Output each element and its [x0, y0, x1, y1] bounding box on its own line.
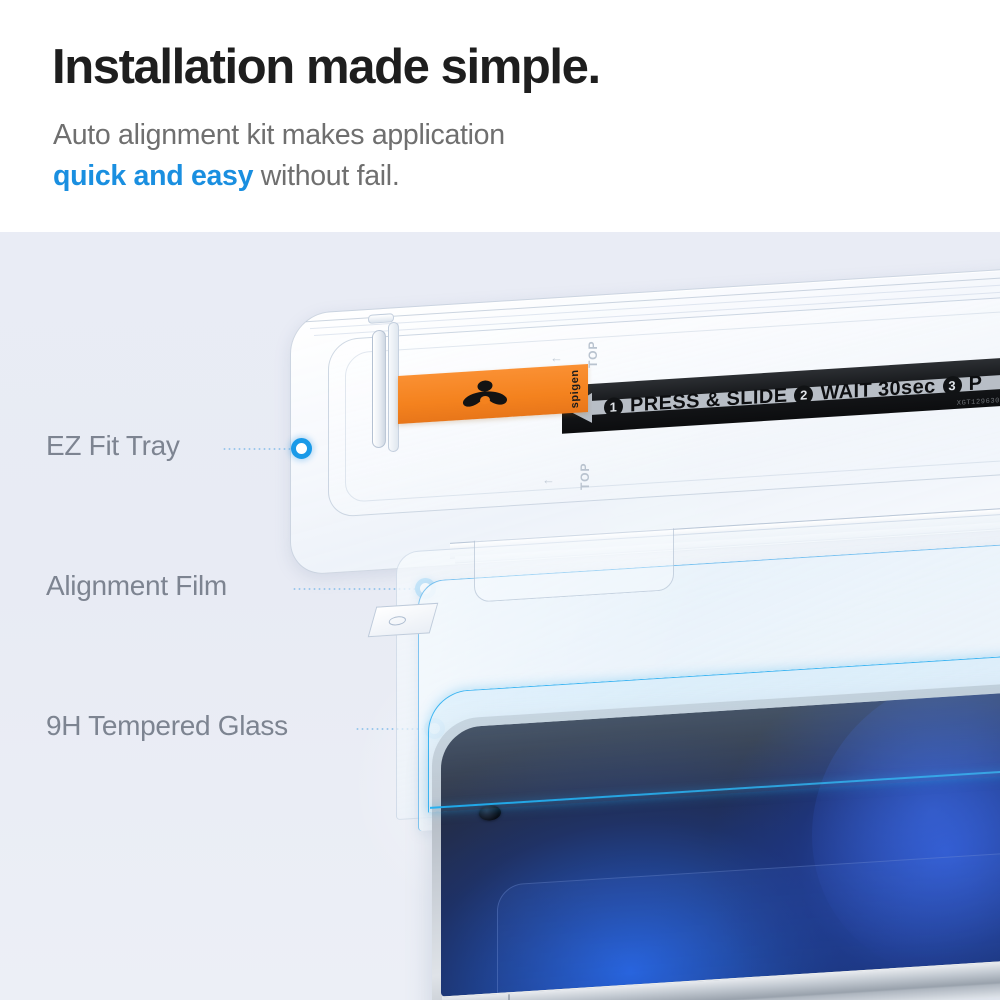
subtitle-line-2: without fail.	[253, 160, 399, 192]
top-marker-upper: TOP	[586, 341, 600, 368]
subtitle-accent: quick and easy	[53, 160, 253, 192]
step-3-badge: 3	[943, 375, 962, 395]
film-notch-cutout	[474, 528, 674, 603]
film-pull-tab-hole	[388, 616, 408, 626]
callout-alignment-film: Alignment Film	[46, 570, 366, 610]
spigen-trefoil-icon	[456, 378, 514, 412]
callout-label-alignment-film: Alignment Film	[46, 570, 227, 602]
callout-label-9h-tempered-glass: 9H Tempered Glass	[46, 710, 288, 742]
top-marker-arrow-upper: ←	[550, 350, 563, 365]
product-illustration-stage: ← TOP ← TOP spigen 1 PRESS & SLIDE 2 WAI…	[0, 232, 1000, 1000]
step-1-badge: 1	[604, 396, 623, 416]
step-2-label: WAIT 30sec	[820, 375, 935, 405]
page-title: Installation made simple.	[52, 40, 600, 95]
page-subtitle: Auto alignment kit makes application qui…	[53, 115, 505, 197]
tray-latch-arm	[372, 330, 386, 449]
step-3-label: P	[969, 372, 983, 396]
callout-9h-tempered-glass: 9H Tempered Glass	[46, 710, 386, 750]
subtitle-line-1: Auto alignment kit makes application	[53, 119, 505, 151]
step-2-badge: 2	[794, 384, 813, 404]
callout-ez-fit-tray: EZ Fit Tray	[46, 430, 346, 470]
top-marker-lower: TOP	[578, 463, 592, 490]
callout-label-ez-fit-tray: EZ Fit Tray	[46, 430, 180, 462]
header-section: Installation made simple. Auto alignment…	[0, 0, 1000, 232]
film-pull-tab	[368, 603, 439, 637]
step-1-label: PRESS & SLIDE	[630, 384, 787, 417]
phone-antenna-line	[508, 994, 510, 1000]
spigen-wordmark: spigen	[569, 369, 581, 409]
top-marker-arrow-lower: ←	[542, 472, 555, 487]
